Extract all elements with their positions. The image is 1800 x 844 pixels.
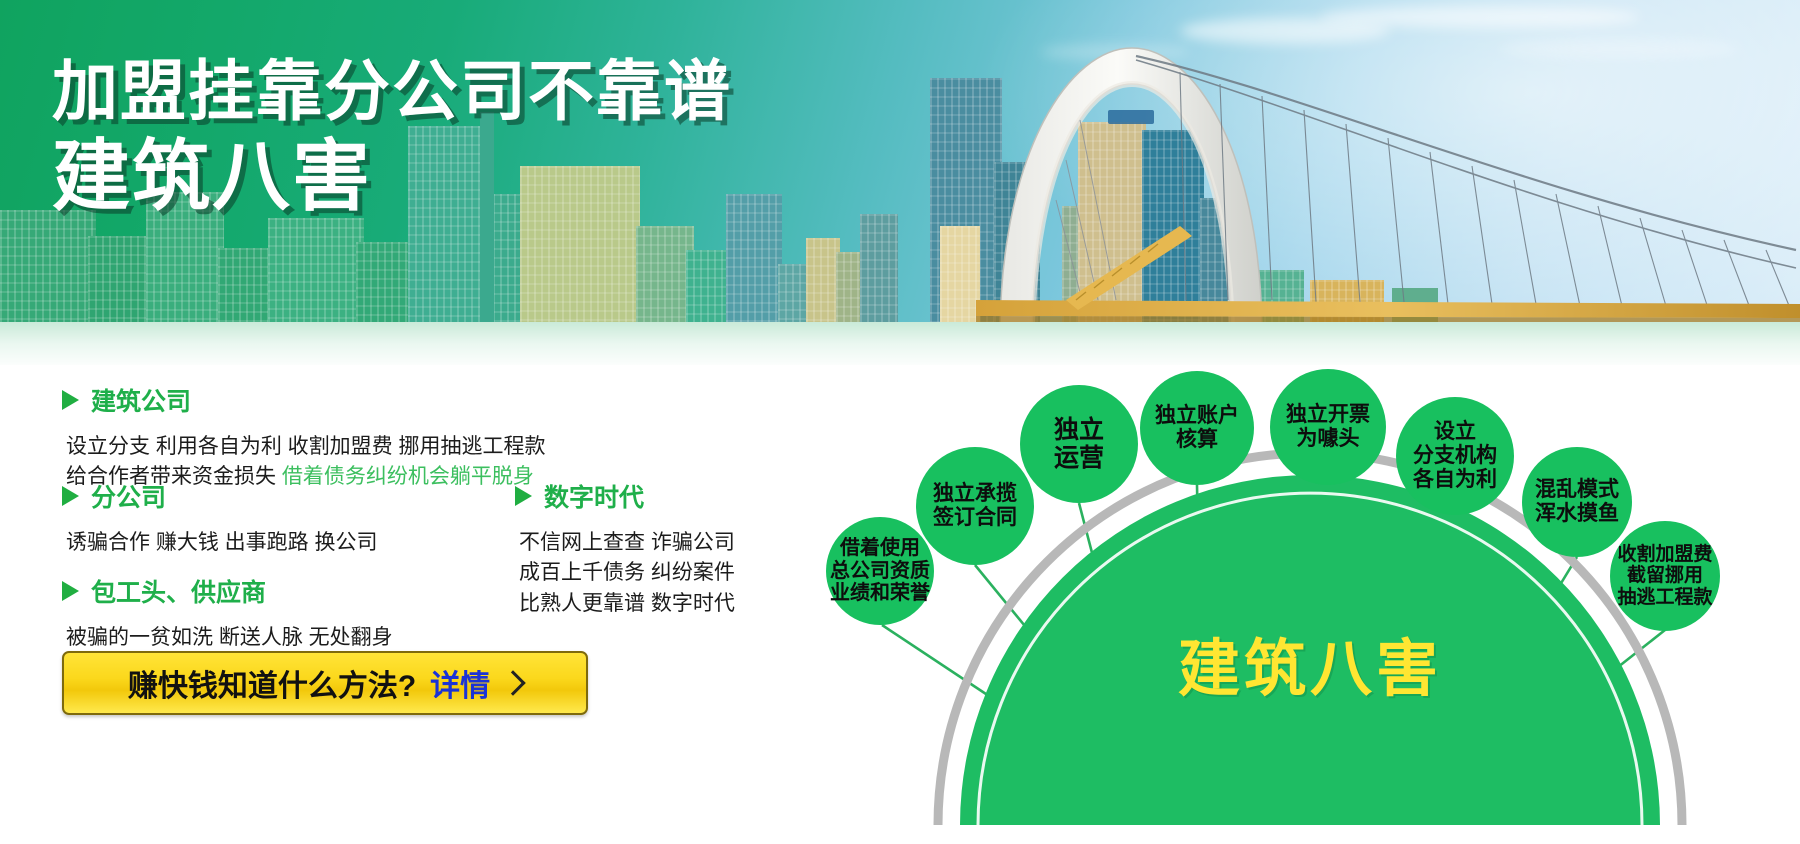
skyline-building bbox=[218, 248, 272, 322]
body-line: 诱骗合作 赚大钱 出事跑路 换公司 bbox=[66, 528, 378, 558]
body-line: 被骗的一贫如洗 断送人脉 无处翻身 bbox=[66, 623, 393, 653]
banner-bottom-divider bbox=[0, 365, 1800, 370]
diagram-node[interactable]: 独立开票 为噱头 bbox=[1270, 369, 1386, 485]
diagram-node[interactable]: 独立账户 核算 bbox=[1140, 371, 1254, 485]
node-line: 独立承揽 bbox=[933, 482, 1017, 506]
hero-banner: 加盟挂靠分公司不靠谱 建筑八害 bbox=[0, 0, 1800, 370]
node-text: 独立承揽 签订合同 bbox=[933, 482, 1017, 530]
dome-center-label: 建筑八害 bbox=[1088, 618, 1532, 708]
section-branch-company: 分公司 诱骗合作 赚大钱 出事跑路 换公司 bbox=[62, 478, 378, 558]
diagram-node[interactable]: 独立 运营 bbox=[1020, 385, 1138, 503]
eight-harms-diagram: 借着使用 总公司资质 业绩和荣誉 独立承揽 签订合同 独立 运营 独立账户 核算 bbox=[820, 375, 1800, 844]
section-heading-label: 分公司 bbox=[91, 478, 166, 514]
headline-line-2: 建筑八害 bbox=[52, 137, 732, 217]
body-text: 比熟人更靠谱 数字时代 bbox=[519, 592, 735, 615]
body-line: 不信网上查查 诈骗公司 bbox=[519, 528, 735, 558]
section-contractor-supplier: 包工头、供应商 被骗的一贫如洗 断送人脉 无处翻身 bbox=[62, 573, 393, 653]
node-text: 独立账户 核算 bbox=[1155, 404, 1239, 452]
body-text: 诱骗合作 赚大钱 出事跑路 换公司 bbox=[66, 531, 378, 554]
node-line: 收割加盟费 bbox=[1617, 544, 1712, 566]
diagram-node[interactable]: 混乱模式 浑水摸鱼 bbox=[1522, 447, 1632, 557]
body-text: 设立分支 利用各自为利 收割加盟费 挪用抽逃工程款 bbox=[66, 435, 546, 458]
node-line: 独立账户 bbox=[1155, 404, 1239, 428]
diagram-node[interactable]: 独立承揽 签订合同 bbox=[916, 447, 1034, 565]
body-text: 不信网上查查 诈骗公司 bbox=[519, 531, 735, 554]
node-text: 独立开票 为噱头 bbox=[1286, 403, 1370, 451]
node-line: 分支机构 bbox=[1413, 444, 1497, 468]
section-heading-label: 包工头、供应商 bbox=[91, 573, 266, 609]
node-line: 浑水摸鱼 bbox=[1535, 502, 1619, 526]
section-heading-label: 数字时代 bbox=[544, 478, 644, 514]
body-line: 成百上千债务 纠纷案件 bbox=[519, 558, 735, 588]
skyline-building bbox=[686, 250, 730, 322]
triangle-bullet-icon bbox=[62, 486, 79, 506]
triangle-bullet-icon bbox=[62, 581, 79, 601]
cta-link-label[interactable]: 详情 bbox=[430, 661, 490, 705]
section-heading: 建筑公司 bbox=[62, 382, 546, 418]
body-line: 比熟人更靠谱 数字时代 bbox=[519, 589, 735, 619]
section-heading: 分公司 bbox=[62, 478, 378, 514]
window-grid bbox=[268, 218, 364, 322]
node-line: 为噱头 bbox=[1286, 427, 1370, 451]
headline-line-1: 加盟挂靠分公司不靠谱 bbox=[52, 58, 732, 125]
body-line: 设立分支 利用各自为利 收割加盟费 挪用抽逃工程款 bbox=[66, 432, 546, 462]
section-heading: 包工头、供应商 bbox=[62, 573, 393, 609]
node-text: 混乱模式 浑水摸鱼 bbox=[1535, 478, 1619, 526]
section-digital-era: 数字时代 不信网上查查 诈骗公司 成百上千债务 纠纷案件 比熟人更靠谱 数字时代 bbox=[515, 478, 735, 619]
triangle-bullet-icon bbox=[515, 486, 532, 506]
section-heading-label: 建筑公司 bbox=[91, 382, 191, 418]
node-text: 设立 分支机构 各自为利 bbox=[1413, 420, 1497, 492]
node-line: 借着使用 bbox=[830, 537, 930, 560]
node-line: 总公司资质 bbox=[830, 560, 930, 583]
section-body: 诱骗合作 赚大钱 出事跑路 换公司 bbox=[66, 528, 378, 558]
hero-headline: 加盟挂靠分公司不靠谱 建筑八害 bbox=[52, 58, 732, 217]
node-line: 独立 bbox=[1054, 416, 1104, 445]
window-grid bbox=[806, 238, 840, 322]
window-grid bbox=[0, 210, 96, 322]
skyline-building bbox=[356, 242, 416, 322]
body-text: 被骗的一贫如洗 断送人脉 无处翻身 bbox=[66, 626, 393, 649]
cta-main-label: 赚快钱知道什么方法? bbox=[128, 661, 416, 705]
node-text: 借着使用 总公司资质 业绩和荣誉 bbox=[830, 537, 930, 605]
window-grid bbox=[218, 248, 272, 322]
node-line: 核算 bbox=[1155, 428, 1239, 452]
triangle-bullet-icon bbox=[62, 390, 79, 410]
window-grid bbox=[356, 242, 416, 322]
details-cta-button[interactable]: 赚快钱知道什么方法? 详情 bbox=[62, 651, 588, 715]
section-body: 被骗的一贫如洗 断送人脉 无处翻身 bbox=[66, 623, 393, 653]
node-text: 独立 运营 bbox=[1054, 416, 1104, 473]
skyline-building bbox=[88, 236, 150, 322]
banner-ground-fade bbox=[0, 322, 1800, 370]
node-line: 业绩和荣誉 bbox=[830, 582, 930, 605]
skyline-building bbox=[726, 194, 782, 322]
window-grid bbox=[88, 236, 150, 322]
diagram-node[interactable]: 设立 分支机构 各自为利 bbox=[1396, 397, 1514, 515]
body-text: 成百上千债务 纠纷案件 bbox=[519, 561, 735, 584]
skyline-building bbox=[0, 210, 96, 322]
node-line: 设立 bbox=[1413, 420, 1497, 444]
diagram-node[interactable]: 借着使用 总公司资质 业绩和荣誉 bbox=[826, 517, 934, 625]
poster-root: 加盟挂靠分公司不靠谱 建筑八害 建筑公司 设立分支 利用各自为利 收割加盟费 挪… bbox=[0, 0, 1800, 844]
node-line: 签订合同 bbox=[933, 506, 1017, 530]
skyline-building bbox=[268, 218, 364, 322]
node-line: 运营 bbox=[1054, 444, 1104, 473]
chevron-right-icon bbox=[500, 670, 525, 695]
node-line: 独立开票 bbox=[1286, 403, 1370, 427]
skyline-building bbox=[806, 238, 840, 322]
bridge-illustration bbox=[880, 0, 1800, 370]
node-text: 收割加盟费 截留挪用 抽逃工程款 bbox=[1617, 544, 1712, 609]
window-grid bbox=[726, 194, 782, 322]
section-heading: 数字时代 bbox=[515, 478, 735, 514]
node-line: 各自为利 bbox=[1413, 468, 1497, 492]
node-line: 混乱模式 bbox=[1535, 478, 1619, 502]
section-construction-company: 建筑公司 设立分支 利用各自为利 收割加盟费 挪用抽逃工程款 给合作者带来资金损… bbox=[62, 382, 546, 493]
window-grid bbox=[686, 250, 730, 322]
left-content-column: 建筑公司 设立分支 利用各自为利 收割加盟费 挪用抽逃工程款 给合作者带来资金损… bbox=[0, 375, 820, 844]
node-line: 抽逃工程款 bbox=[1617, 587, 1712, 609]
section-body: 不信网上查查 诈骗公司 成百上千债务 纠纷案件 比熟人更靠谱 数字时代 bbox=[519, 528, 735, 619]
node-line: 截留挪用 bbox=[1617, 565, 1712, 587]
diagram-node[interactable]: 收割加盟费 截留挪用 抽逃工程款 bbox=[1610, 521, 1720, 631]
